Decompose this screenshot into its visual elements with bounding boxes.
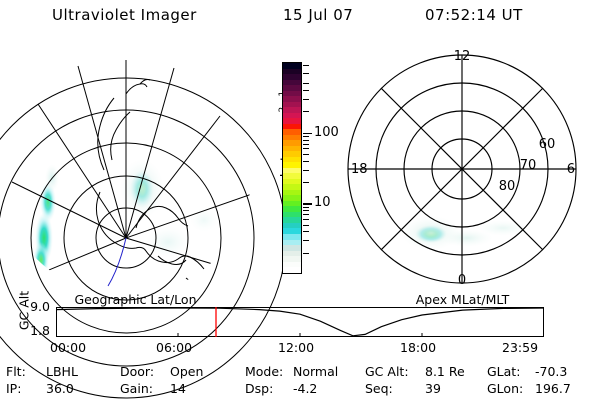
colorbar-minor-tick xyxy=(303,136,309,137)
colorbar-minor-tick xyxy=(303,182,309,183)
colorbar-tick-label: 10 xyxy=(314,196,331,209)
colorbar-minor-tick xyxy=(303,240,309,241)
status-label: Mode: xyxy=(245,364,283,379)
colorbar-minor-tick xyxy=(303,90,309,91)
geographic-plot xyxy=(8,42,263,292)
colorbar-gradient xyxy=(282,62,302,274)
observation-time: 07:52:14 UT xyxy=(425,6,523,28)
status-label: GLon: xyxy=(487,381,523,396)
colorbar-minor-tick xyxy=(303,99,309,100)
orbit-altitude-curve xyxy=(56,307,544,337)
colorbar-major-tick xyxy=(303,203,312,204)
orbit-x-tick-label: 12:00 xyxy=(278,340,314,355)
colorbar-minor-tick xyxy=(303,219,309,220)
orbit-x-tick-label: 00:00 xyxy=(50,340,86,355)
orbit-x-tick-label: 23:59 xyxy=(502,340,538,355)
mlt-label-12: 12 xyxy=(454,49,471,64)
colorbar-minor-tick xyxy=(303,161,309,162)
colorbar-minor-tick xyxy=(303,225,309,226)
status-value: 8.1 Re xyxy=(425,364,465,379)
status-value: 196.7 xyxy=(535,381,571,396)
status-value: -70.3 xyxy=(535,364,567,379)
mlat-label-70: 70 xyxy=(520,158,537,173)
status-row-2: IP:36.0Gain:14Dsp:-4.2Seq:39GLon:196.7 xyxy=(0,381,600,397)
orbit-y-tick-max: 9.0 xyxy=(16,299,50,314)
observation-date: 15 Jul 07 xyxy=(283,6,353,28)
colorbar-minor-tick xyxy=(303,207,309,208)
status-value: Open xyxy=(170,364,203,379)
status-label: Seq: xyxy=(365,381,393,396)
colorbar-minor-tick xyxy=(303,65,309,66)
apex-dial-plot: 12 6 0 18 60 70 80 xyxy=(335,42,590,292)
colorbar-major-tick xyxy=(303,133,312,134)
mlt-spokes xyxy=(348,55,576,283)
colorbar-minor-tick xyxy=(303,170,309,171)
geographic-image-panel[interactable] xyxy=(8,42,263,292)
status-value: Normal xyxy=(293,364,338,379)
colorbar-minor-tick xyxy=(303,148,309,149)
status-label: Flt: xyxy=(6,364,26,379)
status-value: LBHL xyxy=(46,364,78,379)
status-value: -4.2 xyxy=(293,381,317,396)
status-label: GLat: xyxy=(487,364,520,379)
status-value: 14 xyxy=(170,381,186,396)
status-row-1: Flt:LBHLDoor:OpenMode:NormalGC Alt:8.1 R… xyxy=(0,364,600,380)
orbit-altitude-strip[interactable]: GC Alt 9.0 1.8 00:0006:0012:0018:0023:59 xyxy=(56,307,544,337)
instrument-title: Ultraviolet Imager xyxy=(52,6,197,28)
mlat-label-60: 60 xyxy=(539,137,556,152)
mlat-label-80: 80 xyxy=(499,179,516,194)
mlt-label-6: 6 xyxy=(567,162,575,177)
mlt-label-0: 0 xyxy=(458,273,466,288)
colorbar-minor-tick xyxy=(303,73,309,74)
colorbar-minor-tick xyxy=(303,231,309,232)
colorbar-minor-tick xyxy=(303,144,309,145)
status-value: 39 xyxy=(425,381,441,396)
status-label: Gain: xyxy=(120,381,153,396)
mlt-label-18: 18 xyxy=(351,162,368,177)
orbit-y-tick-min: 1.8 xyxy=(16,323,50,338)
uvi-summary-window: Ultraviolet Imager 15 Jul 07 07:52:14 UT xyxy=(0,0,600,400)
aurora-emission-apex xyxy=(401,216,529,250)
status-label: IP: xyxy=(6,381,21,396)
colorbar-minor-tick xyxy=(303,83,309,84)
colorbar-segment xyxy=(283,267,301,273)
status-label: GC Alt: xyxy=(365,364,409,379)
colorbar-minor-tick xyxy=(303,154,309,155)
colorbar-minor-tick xyxy=(303,210,309,211)
orbit-track-line xyxy=(108,238,126,286)
orbit-x-tick-label: 18:00 xyxy=(400,340,436,355)
apex-dial-panel[interactable]: 12 6 0 18 60 70 80 xyxy=(335,42,590,292)
colorbar-minor-tick xyxy=(303,111,309,112)
apex-panel-caption: Apex MLat/MLT xyxy=(335,292,590,307)
status-label: Dsp: xyxy=(245,381,273,396)
colorbar-minor-tick xyxy=(303,140,309,141)
colorbar-minor-tick xyxy=(303,214,309,215)
colorbar-minor-tick xyxy=(303,253,309,254)
status-footer: Flt:LBHLDoor:OpenMode:NormalGC Alt:8.1 R… xyxy=(0,364,600,398)
orbit-x-tick-label: 06:00 xyxy=(156,340,192,355)
colorbar: photon cm-2s-1 10010 xyxy=(262,52,332,297)
status-label: Door: xyxy=(120,364,154,379)
status-value: 36.0 xyxy=(46,381,74,396)
